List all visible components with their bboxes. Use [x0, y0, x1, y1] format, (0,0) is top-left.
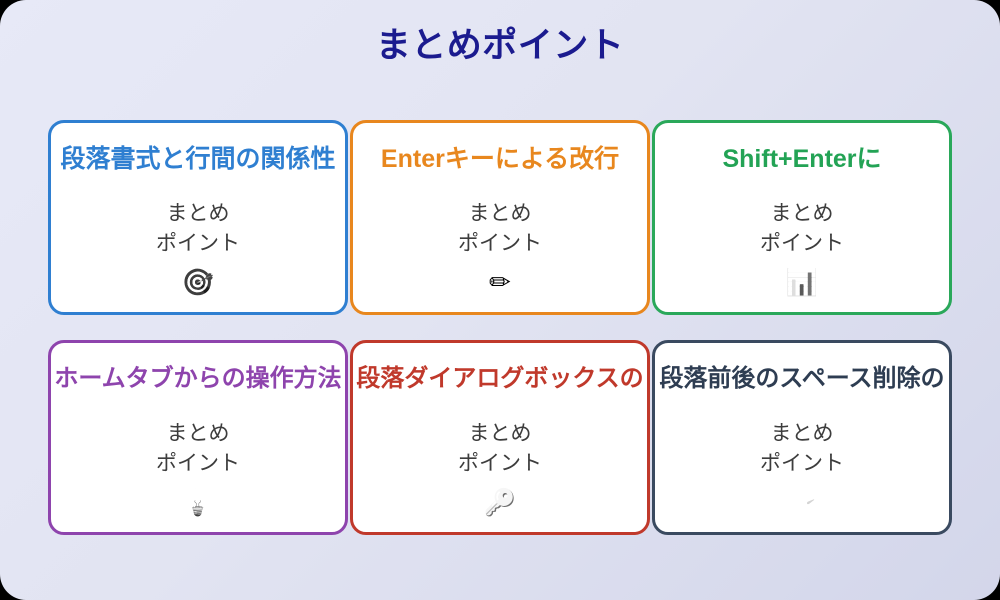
card-body-line-1: まとめ	[655, 199, 949, 229]
card-body: まとめ ポイント	[655, 199, 949, 259]
card-body-line-1: まとめ	[51, 419, 345, 449]
card-body: まとめ ポイント	[353, 199, 647, 259]
card-body: まとめ ポイント	[51, 419, 345, 479]
summary-card-4[interactable]: ホームタブからの操作方法 まとめ ポイント 💡	[48, 340, 348, 535]
summary-card-1[interactable]: 段落書式と行間の関係性 まとめ ポイント 🎯	[48, 120, 348, 315]
summary-points-slide: まとめポイント 段落書式と行間の関係性 まとめ ポイント 🎯 Enterキーによ…	[0, 0, 1000, 600]
card-title: 段落前後のスペース削除の	[659, 365, 944, 393]
card-grid: 段落書式と行間の関係性 まとめ ポイント 🎯 Enterキーによる改行 まとめ …	[48, 120, 952, 535]
card-title: Shift+Enterに	[722, 145, 881, 174]
card-title: 段落ダイアログボックスの	[356, 365, 643, 393]
summary-card-3[interactable]: Shift+Enterに まとめ ポイント 📊	[652, 120, 952, 315]
key-icon: 🔑	[353, 489, 647, 515]
summary-card-5[interactable]: 段落ダイアログボックスの まとめ ポイント 🔑	[350, 340, 650, 535]
card-body: まとめ ポイント	[51, 199, 345, 259]
card-body-line-1: まとめ	[353, 419, 647, 449]
summary-card-6[interactable]: 段落前後のスペース削除の まとめ ポイント ⭐	[652, 340, 952, 535]
card-title: 段落書式と行間の関係性	[60, 145, 335, 174]
card-body-line-1: まとめ	[655, 419, 949, 449]
pencil-icon: ✏	[353, 269, 647, 295]
card-title: ホームタブからの操作方法	[54, 365, 341, 393]
card-body-line-2: ポイント	[353, 229, 647, 259]
card-body-line-2: ポイント	[51, 229, 345, 259]
card-body-line-2: ポイント	[353, 449, 647, 479]
star-icon: ⭐	[655, 489, 949, 515]
card-body-line-2: ポイント	[655, 449, 949, 479]
card-title: Enterキーによる改行	[381, 145, 619, 174]
page-title: まとめポイント	[0, 27, 1000, 66]
dart-target-icon: 🎯	[51, 269, 345, 295]
summary-card-2[interactable]: Enterキーによる改行 まとめ ポイント ✏	[350, 120, 650, 315]
card-body-line-2: ポイント	[655, 229, 949, 259]
card-body: まとめ ポイント	[353, 419, 647, 479]
bar-chart-icon: 📊	[655, 269, 949, 295]
card-body: まとめ ポイント	[655, 419, 949, 479]
lightbulb-icon: 💡	[51, 489, 345, 515]
card-body-line-1: まとめ	[51, 199, 345, 229]
card-body-line-1: まとめ	[353, 199, 647, 229]
card-body-line-2: ポイント	[51, 449, 345, 479]
